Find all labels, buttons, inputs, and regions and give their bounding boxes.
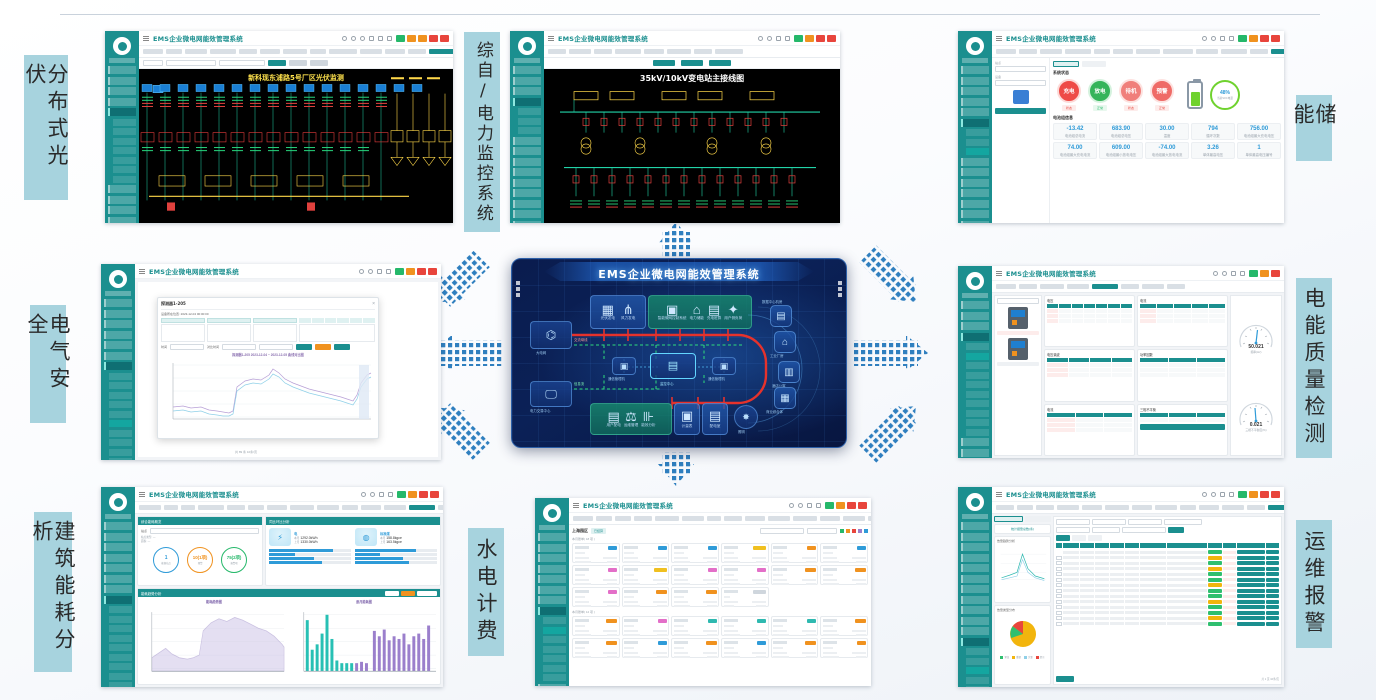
station-select[interactable]: [166, 60, 216, 66]
sidebar-item[interactable]: [513, 66, 541, 74]
menu-toggle-icon[interactable]: [573, 502, 579, 508]
table-list[interactable]: [161, 324, 205, 342]
building-navbar[interactable]: [135, 502, 443, 514]
sidebar-item[interactable]: [961, 585, 989, 593]
sidebar-item[interactable]: [961, 533, 989, 541]
sidebar-subitem[interactable]: [518, 127, 541, 134]
nav-item[interactable]: [290, 505, 314, 510]
level-select[interactable]: [1128, 519, 1162, 525]
sidebar-item[interactable]: [513, 179, 541, 187]
sidebar-subitem[interactable]: [518, 118, 541, 125]
quality-sidebar[interactable]: [958, 266, 992, 458]
sidebar-item[interactable]: [961, 66, 989, 74]
sidebar-subitem[interactable]: [109, 392, 132, 399]
nav-item[interactable]: [996, 284, 1016, 289]
sidebar-item[interactable]: [538, 586, 566, 594]
sidebar-item[interactable]: [961, 210, 989, 218]
sidebar-item[interactable]: [513, 137, 541, 145]
bell-icon[interactable]: [388, 492, 393, 497]
alarm-filter-row-1[interactable]: [1056, 519, 1279, 525]
help-icon[interactable]: [758, 36, 763, 41]
nav-item[interactable]: [1105, 505, 1129, 510]
power-quality-screenshot[interactable]: EMS企业微电网能效管理系统: [958, 266, 1284, 458]
sidebar-item[interactable]: [538, 575, 566, 583]
tile-load[interactable]: ✦ 用户侧负荷: [724, 303, 742, 321]
sidebar-item[interactable]: [961, 189, 989, 197]
sidebar-item[interactable]: [104, 575, 132, 583]
history-data-button[interactable]: [1140, 424, 1225, 430]
billing-card[interactable]: [622, 616, 670, 636]
sidebar-item[interactable]: [961, 564, 989, 572]
alarm-tabs[interactable]: [994, 516, 1051, 522]
alarm-table-rows[interactable]: [1056, 550, 1279, 674]
billing-sidebar-menu[interactable]: [535, 533, 569, 686]
sidebar-subitem[interactable]: [966, 410, 989, 417]
nav-item[interactable]: [745, 516, 765, 521]
handle-button[interactable]: [1266, 600, 1279, 604]
sidebar-item[interactable]: [104, 310, 132, 318]
help-icon[interactable]: [361, 492, 366, 497]
right-node-factory[interactable]: ⌂: [774, 331, 796, 353]
quality-sidebar-menu[interactable]: [958, 301, 992, 458]
sidebar-subitem[interactable]: [966, 400, 989, 407]
nav-item[interactable]: [1040, 49, 1062, 54]
nav-item[interactable]: [239, 49, 257, 54]
sidebar-item-active[interactable]: [104, 362, 132, 370]
type-select[interactable]: [1092, 519, 1126, 525]
device-tag[interactable]: [995, 108, 1046, 114]
nav-item-active[interactable]: [429, 49, 453, 54]
nav-item[interactable]: [996, 49, 1016, 54]
sidebar-subitem[interactable]: [109, 682, 132, 687]
nav-item[interactable]: [227, 505, 245, 510]
menu-toggle-icon[interactable]: [996, 35, 1002, 41]
nav-item[interactable]: [1065, 49, 1091, 54]
station-select[interactable]: [995, 66, 1046, 72]
search-icon[interactable]: [351, 36, 356, 41]
nav-item[interactable]: [438, 505, 443, 510]
nav-item[interactable]: [655, 516, 679, 521]
sidebar-item[interactable]: [108, 217, 136, 224]
sidebar-subitem[interactable]: [113, 119, 136, 126]
sidebar-subitem[interactable]: [543, 617, 566, 624]
history-button[interactable]: [681, 60, 703, 66]
handle-button[interactable]: [1266, 550, 1279, 554]
sidebar-item[interactable]: [538, 684, 566, 687]
nav-item[interactable]: [793, 516, 817, 521]
bell-icon[interactable]: [387, 36, 392, 41]
report-button[interactable]: [709, 60, 731, 66]
storage-tabs[interactable]: [1053, 61, 1281, 67]
sidebar-subitem[interactable]: [966, 129, 989, 136]
pv-navbar[interactable]: [139, 46, 453, 58]
alarm-sidebar-menu[interactable]: [958, 522, 992, 687]
chart-tab-day[interactable]: [385, 591, 399, 596]
row-actions[interactable]: [1237, 572, 1265, 576]
handle-button[interactable]: [1266, 589, 1279, 593]
nav-item[interactable]: [1082, 505, 1102, 510]
table-list[interactable]: [253, 324, 297, 342]
nav-item-active[interactable]: [1268, 505, 1284, 510]
help-icon[interactable]: [342, 36, 347, 41]
substation-single-line-diagram[interactable]: 35kV/10kV变电站主接线图: [544, 69, 840, 223]
handle-button[interactable]: [1266, 605, 1279, 609]
search-icon[interactable]: [368, 269, 373, 274]
sidebar-item[interactable]: [961, 543, 989, 551]
nav-item[interactable]: [1057, 505, 1079, 510]
comm-gateway-left[interactable]: ▣: [612, 357, 636, 375]
billing-card[interactable]: [671, 587, 719, 607]
table-row[interactable]: [1056, 578, 1279, 582]
bell-icon[interactable]: [785, 36, 790, 41]
refresh-button[interactable]: [310, 60, 328, 66]
nav-item[interactable]: [329, 49, 357, 54]
help-icon[interactable]: [1202, 492, 1207, 497]
sidebar-item[interactable]: [961, 575, 989, 583]
nav-item[interactable]: [682, 516, 704, 521]
sidebar-item[interactable]: [108, 206, 136, 214]
row-actions[interactable]: [1237, 578, 1265, 582]
sidebar-subitem[interactable]: [113, 176, 136, 183]
quality-device-column[interactable]: [994, 295, 1042, 456]
table-row[interactable]: [1056, 556, 1279, 560]
sidebar-item[interactable]: [961, 312, 989, 320]
search-icon[interactable]: [370, 492, 375, 497]
chart-tab-month[interactable]: [401, 591, 415, 596]
billing-card-grid-1[interactable]: [572, 543, 868, 607]
sidebar-item[interactable]: [961, 77, 989, 85]
sidebar-subitem[interactable]: [113, 166, 136, 173]
sidebar-item[interactable]: [108, 196, 136, 204]
sidebar-item-active[interactable]: [104, 596, 132, 604]
tab-all-alarms[interactable]: [994, 516, 1023, 522]
table-row[interactable]: [1056, 583, 1279, 587]
nav-item[interactable]: [310, 49, 326, 54]
nav-item[interactable]: [260, 49, 280, 54]
nav-item[interactable]: [707, 516, 721, 521]
building-bar-chart[interactable]: 逐月能耗图: [290, 599, 438, 682]
sidebar-subitem[interactable]: [109, 606, 132, 613]
query-button[interactable]: [268, 60, 286, 66]
row-actions[interactable]: [1237, 622, 1265, 626]
sidebar-item[interactable]: [104, 585, 132, 593]
storage-navbar[interactable]: [992, 46, 1284, 58]
handle-button[interactable]: [1266, 616, 1279, 620]
sidebar-item[interactable]: [961, 108, 989, 116]
table-row[interactable]: [1056, 550, 1279, 554]
sidebar-item[interactable]: [104, 299, 132, 307]
safety-content[interactable]: 共 89 条 10条/页 探测器1-205 × 设备所在位置: 2023-12-…: [135, 279, 441, 460]
sidebar-subitem[interactable]: [109, 411, 132, 418]
bottom-tile-lighting[interactable]: ✸: [734, 405, 758, 429]
nav-item[interactable]: [408, 49, 426, 54]
safety-detail-dialog[interactable]: 探测器1-205 × 设备所在位置: 2023-12-04 00:00:00: [157, 297, 379, 439]
sidebar-item[interactable]: [961, 87, 989, 95]
billing-card[interactable]: [820, 565, 868, 585]
building-area-chart[interactable]: 能耗趋势图: [140, 599, 288, 682]
billing-card[interactable]: [572, 565, 620, 585]
billing-sidebar[interactable]: [535, 498, 569, 686]
sidebar-subitem-active[interactable]: [543, 627, 566, 634]
billing-card[interactable]: [771, 616, 819, 636]
nav-item[interactable]: [1113, 49, 1133, 54]
alarm-table-area[interactable]: 共 1 页 10条/页: [1053, 516, 1282, 685]
tab-active[interactable]: [1053, 61, 1079, 67]
building-sidebar[interactable]: [101, 487, 135, 687]
sidebar-subitem[interactable]: [966, 648, 989, 655]
billing-card[interactable]: [671, 616, 719, 636]
tab-card[interactable]: [1072, 535, 1086, 541]
nav-item[interactable]: [1221, 49, 1247, 54]
billing-card[interactable]: [721, 638, 769, 658]
ems-architecture-diagram[interactable]: EMS企业微电网能效管理系统 ⌬ 大电网 🖵 电力交易中心 ▦ 光伏发电 ⋔ 风…: [511, 258, 847, 448]
nav-item[interactable]: [634, 516, 652, 521]
nav-item[interactable]: [596, 516, 612, 521]
device-select[interactable]: [995, 80, 1046, 86]
storage-sidebar-menu[interactable]: [958, 66, 992, 223]
nav-item[interactable]: [248, 505, 264, 510]
tab-pending-alarms[interactable]: [1025, 516, 1052, 522]
device-card[interactable]: [997, 338, 1039, 366]
safety-sidebar-menu[interactable]: [101, 299, 135, 460]
tile-pv[interactable]: ▦ 光伏发电: [601, 303, 615, 321]
sidebar-subitem[interactable]: [109, 654, 132, 661]
handle-button[interactable]: [1266, 622, 1279, 626]
nav-item[interactable]: [185, 49, 207, 54]
nav-item[interactable]: [267, 505, 287, 510]
billing-card[interactable]: [671, 638, 719, 658]
query-button[interactable]: [296, 344, 312, 350]
billing-card[interactable]: [671, 565, 719, 585]
table-row[interactable]: [1056, 589, 1279, 593]
billing-card[interactable]: [622, 543, 670, 563]
sidebar-subitem[interactable]: [109, 401, 132, 408]
dialog-filter-bar[interactable]: 时间 对比时间: [161, 344, 375, 350]
distributed-pv-screenshot[interactable]: EMS企业微电网能效管理系统: [105, 31, 453, 223]
sidebar-item[interactable]: [961, 221, 989, 224]
sidebar-item[interactable]: [538, 565, 566, 573]
sidebar-item[interactable]: [961, 596, 989, 604]
nav-item[interactable]: [1094, 49, 1110, 54]
sidebar-item[interactable]: [108, 66, 136, 74]
batch-button[interactable]: [1056, 676, 1074, 682]
billing-card[interactable]: [721, 616, 769, 636]
handle-button[interactable]: [1266, 578, 1279, 582]
bottom-tile-switchroom[interactable]: ▤ 配电室: [702, 403, 728, 435]
sidebar-subitem-active[interactable]: [109, 420, 132, 427]
help-icon[interactable]: [1202, 36, 1207, 41]
tile-efficiency[interactable]: ⊪ 能效分析: [641, 410, 655, 428]
tile-om[interactable]: ⚖ 运维管理: [624, 410, 638, 428]
nav-item[interactable]: [384, 505, 406, 510]
table-row[interactable]: [1056, 572, 1279, 576]
nav-item-active[interactable]: [1092, 284, 1118, 289]
row-actions[interactable]: [1237, 583, 1265, 587]
sub-canvas[interactable]: 35kV/10kV变电站主接线图: [544, 69, 840, 223]
menu-toggle-icon[interactable]: [139, 268, 145, 274]
sidebar-subitem[interactable]: [543, 674, 566, 681]
nav-item[interactable]: [1247, 505, 1265, 510]
sidebar-subitem[interactable]: [543, 665, 566, 672]
menu-toggle-icon[interactable]: [996, 270, 1002, 276]
table-row[interactable]: [1056, 616, 1279, 620]
sidebar-subitem[interactable]: [109, 673, 132, 680]
sidebar-subitem-active[interactable]: [966, 353, 989, 360]
sidebar-item[interactable]: [513, 200, 541, 208]
nav-item[interactable]: [385, 49, 405, 54]
table-list[interactable]: [207, 324, 251, 342]
grid-node[interactable]: ⌬: [530, 321, 572, 349]
sidebar-item[interactable]: [961, 179, 989, 187]
billing-card[interactable]: [721, 587, 769, 607]
bottom-tile-meter[interactable]: ▣ 计量表: [674, 403, 700, 435]
sidebar-item-active[interactable]: [538, 607, 566, 615]
sidebar-item[interactable]: [108, 98, 136, 106]
control-center-node[interactable]: ▤: [650, 353, 696, 379]
sidebar-item[interactable]: [108, 87, 136, 95]
search-input[interactable]: [807, 528, 837, 534]
comm-gateway-right[interactable]: ▣: [712, 357, 736, 375]
nav-item[interactable]: [1136, 49, 1160, 54]
sidebar-subitem[interactable]: [109, 458, 132, 460]
row-actions[interactable]: [1237, 589, 1265, 593]
nav-item[interactable]: [1017, 505, 1033, 510]
billing-navbar[interactable]: [569, 513, 871, 525]
nav-item[interactable]: [667, 49, 691, 54]
sidebar-item[interactable]: [961, 200, 989, 208]
nav-item[interactable]: [1036, 505, 1054, 510]
sidebar-subitem[interactable]: [518, 108, 541, 115]
nav-item[interactable]: [342, 505, 358, 510]
sidebar-item[interactable]: [961, 522, 989, 530]
tile-microgrid-control[interactable]: ▣ 智能微网控制系统: [658, 303, 687, 321]
sidebar-item[interactable]: [104, 320, 132, 328]
billing-card[interactable]: [572, 638, 620, 658]
nav-item[interactable]: [843, 516, 865, 521]
fullscreen-icon[interactable]: [379, 492, 384, 497]
sidebar-item[interactable]: [961, 554, 989, 562]
storage-sidebar[interactable]: [958, 31, 992, 223]
device-select[interactable]: [219, 60, 265, 66]
tab-list[interactable]: [1056, 535, 1070, 541]
nav-item[interactable]: [569, 49, 591, 54]
sidebar-item[interactable]: [961, 168, 989, 176]
station-select[interactable]: [1056, 519, 1090, 525]
sidebar-subitem[interactable]: [109, 439, 132, 446]
handle-button[interactable]: [1266, 567, 1279, 571]
billing-content[interactable]: 上海园区 已结算: [569, 525, 871, 686]
sidebar-subitem[interactable]: [113, 157, 136, 164]
nav-item[interactable]: [210, 49, 236, 54]
nav-item[interactable]: [1180, 505, 1196, 510]
nav-item[interactable]: [1142, 284, 1164, 289]
building-content[interactable]: 综合能耗概览 站点 站点类型: — 面积: —: [135, 514, 443, 687]
safety-sidebar[interactable]: [101, 264, 135, 460]
alarm-content[interactable]: 统计报警总数(条) 告警趋势分析 告警类型分布: [992, 514, 1284, 687]
fullscreen-icon[interactable]: [1231, 271, 1236, 276]
sidebar-subitem[interactable]: [113, 147, 136, 154]
billing-card[interactable]: [572, 543, 620, 563]
fullscreen-icon[interactable]: [1220, 36, 1225, 41]
sidebar-subitem-active[interactable]: [966, 667, 989, 674]
sidebar-item[interactable]: [108, 185, 136, 193]
sidebar-item[interactable]: [961, 98, 989, 106]
row-actions[interactable]: [1237, 594, 1265, 598]
sidebar-subitem[interactable]: [966, 381, 989, 388]
nav-item[interactable]: [1019, 49, 1037, 54]
nav-item[interactable]: [1196, 49, 1218, 54]
handle-button[interactable]: [1266, 583, 1279, 587]
table-row[interactable]: [1056, 622, 1279, 626]
safety-trend-chart[interactable]: 探测器1-205 2023-12-04 ~ 2023-12-05 曲线对比图: [161, 352, 375, 436]
pv-sidebar-menu[interactable]: [105, 66, 139, 223]
bell-icon[interactable]: [1240, 271, 1245, 276]
sidebar-item[interactable]: [104, 564, 132, 572]
sidebar-item[interactable]: [961, 627, 989, 635]
sidebar-item[interactable]: [104, 543, 132, 551]
table-row[interactable]: [1056, 611, 1279, 615]
billing-card[interactable]: [820, 616, 868, 636]
quality-content[interactable]: 电压: [992, 293, 1284, 458]
nav-item[interactable]: [644, 49, 664, 54]
sidebar-item[interactable]: [513, 87, 541, 95]
tab-export[interactable]: [1088, 535, 1102, 541]
dispatch-center-node[interactable]: 🖵: [530, 381, 572, 407]
nav-item[interactable]: [573, 516, 593, 521]
building-energy-screenshot[interactable]: EMS企业微电网能效管理系统: [101, 487, 443, 687]
sidebar-item[interactable]: [961, 322, 989, 330]
handle-button[interactable]: [1266, 611, 1279, 615]
sidebar-item[interactable]: [104, 533, 132, 541]
nav-item[interactable]: [283, 49, 307, 54]
sidebar-subitem[interactable]: [966, 686, 989, 687]
device-search-input[interactable]: [997, 298, 1039, 304]
sidebar-item[interactable]: [961, 438, 989, 446]
keyword-input[interactable]: [1092, 527, 1120, 533]
sidebar-item[interactable]: [961, 301, 989, 309]
nav-item[interactable]: [317, 505, 339, 510]
billing-card[interactable]: [771, 565, 819, 585]
billing-card[interactable]: [820, 543, 868, 563]
sidebar-item[interactable]: [961, 606, 989, 614]
table-row[interactable]: [1056, 561, 1279, 565]
alarm-filter-row-2[interactable]: [1056, 527, 1279, 533]
sidebar-item[interactable]: [538, 554, 566, 562]
sidebar-item[interactable]: [104, 341, 132, 349]
nav-item[interactable]: [166, 49, 182, 54]
sidebar-subitem[interactable]: [109, 616, 132, 623]
alarm-footer[interactable]: 共 1 页 10条/页: [1056, 676, 1279, 682]
billing-card[interactable]: [771, 543, 819, 563]
nav-item[interactable]: [1121, 284, 1139, 289]
billing-card[interactable]: [820, 638, 868, 658]
power-monitoring-screenshot[interactable]: EMS企业微电网能效管理系统: [510, 31, 840, 223]
billing-card[interactable]: [721, 565, 769, 585]
billing-card[interactable]: [572, 587, 620, 607]
table-row[interactable]: [1056, 594, 1279, 598]
export-button[interactable]: [315, 344, 331, 350]
billing-card[interactable]: [572, 616, 620, 636]
nav-item[interactable]: [139, 505, 161, 510]
om-alarm-screenshot[interactable]: EMS企业微电网能效管理系统: [958, 487, 1284, 687]
sidebar-subitem[interactable]: [109, 449, 132, 456]
nav-item[interactable]: [615, 49, 641, 54]
nav-item[interactable]: [1222, 505, 1244, 510]
billing-card[interactable]: [622, 565, 670, 585]
billing-card[interactable]: [721, 543, 769, 563]
help-icon[interactable]: [789, 503, 794, 508]
site-select[interactable]: [150, 528, 259, 534]
